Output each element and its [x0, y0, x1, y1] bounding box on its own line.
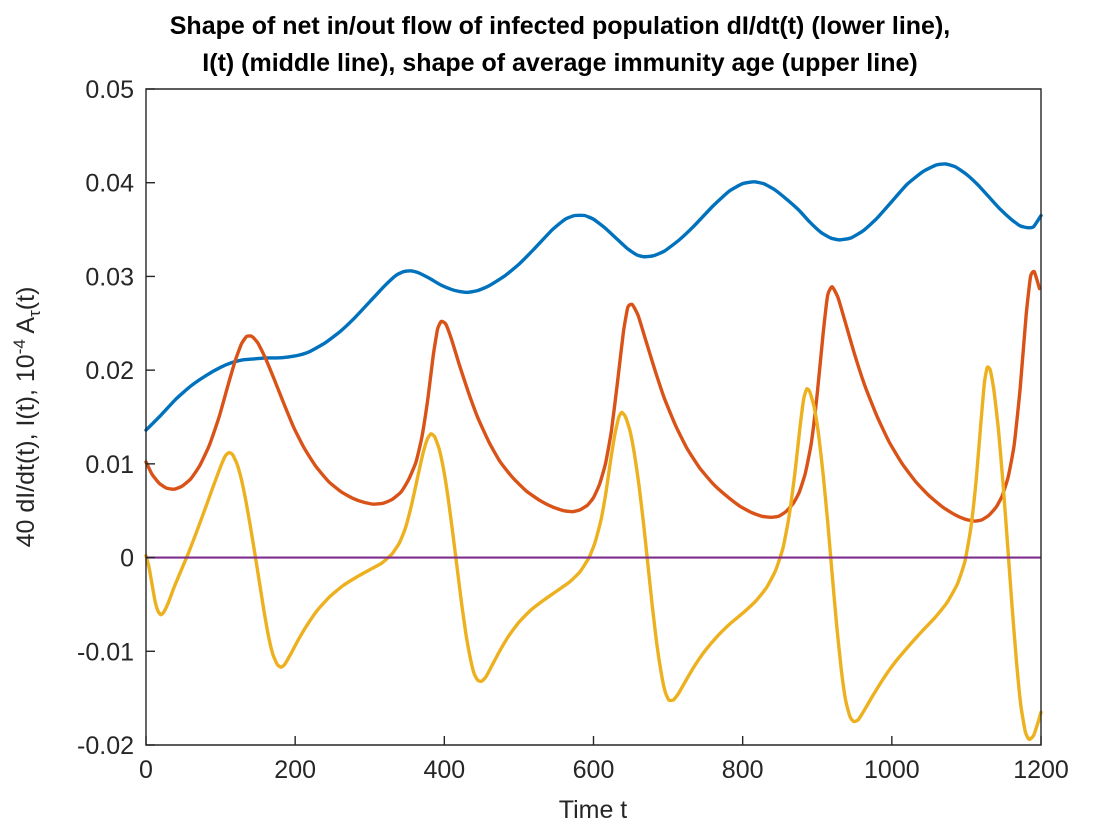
y-tick-label: 0.04	[85, 170, 134, 198]
x-tick-label: 0	[139, 756, 153, 784]
x-tick-label: 200	[274, 756, 316, 784]
y-tick-label: -0.02	[77, 732, 134, 760]
x-tick-label: 400	[423, 756, 465, 784]
y-axis-label-part1: 40 dI/dt(t), I(t), 10	[12, 354, 40, 547]
x-tick-label: 800	[722, 756, 764, 784]
y-tick-label: -0.01	[77, 638, 134, 666]
figure-container: Shape of net in/out flow of infected pop…	[0, 0, 1120, 840]
x-tick-label: 1200	[1013, 756, 1069, 784]
y-axis-label: 40 dI/dt(t), I(t), 10-4 Aτ(t)	[10, 287, 44, 548]
y-tick-label: 0.02	[85, 357, 134, 385]
x-axis-label: Time t	[559, 796, 628, 824]
figure-background	[0, 0, 1120, 840]
x-tick-label: 600	[573, 756, 615, 784]
y-tick-label: 0.01	[85, 451, 134, 479]
y-axis-label-part2: A	[12, 317, 40, 340]
chart-title-line-2: I(t) (middle line), shape of average imm…	[202, 49, 917, 77]
y-axis-label-superscript: -4	[10, 339, 29, 354]
y-axis-label-part3: (t)	[12, 287, 40, 311]
chart-title-line-1: Shape of net in/out flow of infected pop…	[170, 12, 950, 40]
y-tick-label: 0.05	[85, 76, 134, 104]
svg-text:40 dI/dt(t), I(t), 10-4 Aτ: 40 dI/dt(t), I(t), 10-4 Aτ(t)	[10, 287, 44, 548]
x-tick-label: 1000	[864, 756, 920, 784]
line-chart: Shape of net in/out flow of infected pop…	[0, 0, 1120, 840]
y-tick-label: 0	[120, 545, 134, 573]
y-tick-label: 0.03	[85, 263, 134, 291]
